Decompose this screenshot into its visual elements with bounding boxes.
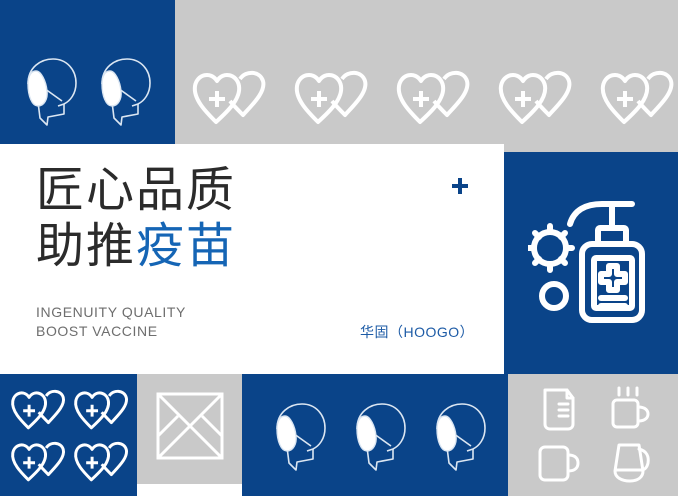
poster-canvas: 匠心品质 助推疫苗 INGENUITY QUALITY BOOST VACCIN…: [0, 0, 678, 496]
double-heart-plus-icon: [292, 67, 370, 129]
double-heart-plus-icon: [72, 439, 130, 485]
double-heart-plus-icon: [72, 387, 130, 433]
bottom-heart-icon-grid: [6, 384, 132, 488]
double-heart-plus-icon: [394, 67, 472, 129]
mug-icon: [536, 442, 582, 484]
page-title: 匠心品质 助推疫苗: [36, 163, 336, 275]
subtitle: INGENUITY QUALITY BOOST VACCINE: [36, 303, 186, 341]
headline-line-2-dark: 助推: [36, 220, 136, 273]
headline-line-1: 匠心品质: [36, 163, 336, 219]
double-heart-plus-icon: [9, 439, 67, 485]
double-heart-plus-icon: [190, 67, 268, 129]
top-heart-icon-row: [190, 66, 670, 130]
subtitle-line-1: INGENUITY QUALITY: [36, 303, 186, 322]
image-placeholder-icon: [156, 392, 224, 460]
double-heart-plus-icon: [9, 387, 67, 433]
double-heart-plus-icon: [598, 67, 676, 129]
subtitle-line-2: BOOST VACCINE: [36, 322, 186, 341]
masked-person-icon: [14, 54, 80, 128]
top-mask-icon-row: [14, 52, 164, 130]
pitcher-kettle-icon: [605, 441, 653, 485]
headline-line-2: 助推疫苗: [36, 219, 336, 275]
masked-person-icon: [88, 54, 154, 128]
masked-person-icon: [423, 399, 489, 473]
graduated-beaker-icon: [537, 386, 581, 432]
masked-person-icon: [263, 399, 329, 473]
steaming-cup-icon: [606, 386, 652, 432]
headline-line-2-blue: 疫苗: [136, 220, 236, 273]
double-heart-plus-icon: [496, 67, 574, 129]
plus-icon: [450, 176, 470, 196]
lab-glassware-icon-grid: [524, 382, 664, 490]
bottom-mask-icon-row: [256, 392, 496, 480]
hand-sanitizer-illustration: [528, 196, 656, 328]
masked-person-icon: [343, 399, 409, 473]
brand-name: 华固（HOOGO）: [360, 322, 474, 342]
